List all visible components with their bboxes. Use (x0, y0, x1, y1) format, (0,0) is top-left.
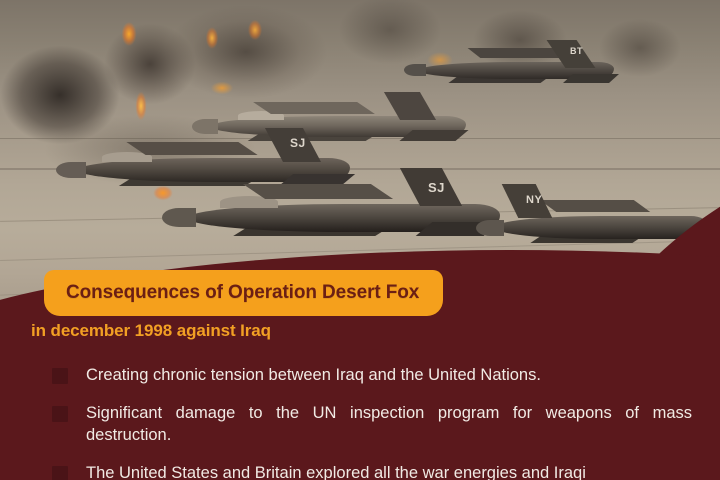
page-title: Consequences of Operation Desert Fox (66, 282, 419, 304)
list-item: Creating chronic tension between Iraq an… (52, 364, 692, 386)
stabilizer-icon (563, 74, 619, 83)
wing-icon (468, 48, 567, 58)
list-item-text: Creating chronic tension between Iraq an… (86, 364, 692, 386)
bullet-square-icon (52, 466, 68, 480)
wing-icon (253, 102, 375, 114)
bullet-square-icon (52, 406, 68, 422)
tail-code-label: BT (570, 46, 583, 56)
nose-icon (404, 64, 426, 76)
consequences-list: Creating chronic tension between Iraq an… (52, 364, 692, 480)
list-item: The United States and Britain explored a… (52, 462, 692, 480)
stabilizer-icon (399, 130, 468, 141)
wing-icon (243, 184, 393, 199)
tail-code-label: SJ (290, 136, 306, 150)
poster-root: BT SJ (0, 0, 720, 480)
page-subtitle: in december 1998 against Iraq (31, 321, 271, 341)
tail-code-label: NY (526, 194, 542, 206)
fuselage-icon (494, 216, 708, 239)
tail-code-label: SJ (428, 180, 445, 195)
list-item-text: Significant damage to the UN inspection … (86, 402, 692, 446)
list-item-text: The United States and Britain explored a… (86, 462, 692, 480)
wing-icon (540, 200, 651, 212)
nose-icon (476, 220, 504, 236)
list-item: Significant damage to the UN inspection … (52, 402, 692, 446)
nose-icon (56, 162, 86, 178)
nose-icon (162, 208, 196, 227)
title-banner: Consequences of Operation Desert Fox (44, 270, 443, 316)
wing-icon (126, 142, 257, 155)
bullet-square-icon (52, 368, 68, 384)
